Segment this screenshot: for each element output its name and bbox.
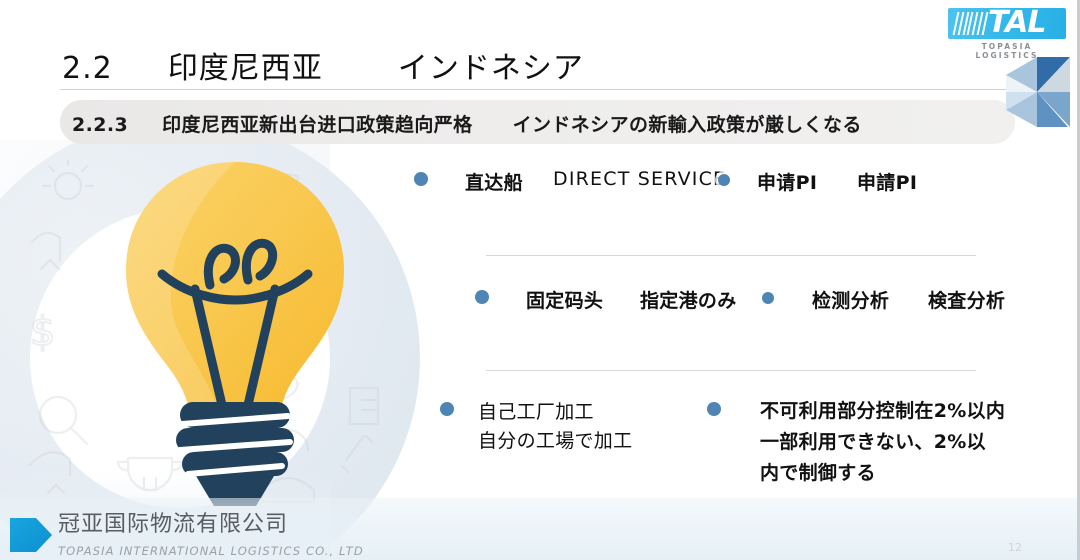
footer-company-cn: 冠亚国际物流有限公司 [58,506,288,538]
page-number: 12 [1008,541,1022,554]
row2-left-jp: 指定港のみ [640,286,737,313]
footer-company-en: TOPASIA INTERNATIONAL LOGISTICS CO., LTD [58,544,364,558]
row3-right-line1: 不可利用部分控制在2%以内 [760,396,1005,427]
row1-right-cn: 申请PI [757,168,817,195]
row2-right-jp: 検査分析 [928,286,1005,313]
lightbulb-idea-illustration [70,150,400,510]
bullet-row1-left [414,172,428,186]
row2-left-cn: 固定码头 [526,286,603,313]
row3-left-line2: 自分の工場で加工 [478,427,632,456]
tal-brand-text: TAL [988,8,1045,39]
hexagon-mark-icon [10,512,52,558]
title-jp: インドネシア [398,51,584,86]
pinwheel-icon [1000,55,1074,129]
subtitle-number: 2.2.3 [72,114,128,136]
row3-left-block: 自己工厂加工 自分の工場で加工 [478,398,632,456]
bullet-row2-right [762,292,774,304]
row1-left-en: DIRECT SERVICE [553,168,726,190]
row2-right-cn: 检测分析 [812,286,889,313]
row3-right-line2: 一部利用できない、2%以 [760,427,1005,458]
row1-right-jp: 申請PI [857,168,917,195]
page-title: 2.2 印度尼西亚 インドネシア [62,43,584,87]
bullet-row1-right [718,174,730,186]
row3-left-line1: 自己工厂加工 [478,398,632,427]
tal-logo: TAL TOPASIA LOGISTICS [948,8,1066,52]
lightbulb-icon [70,150,400,510]
row3-right-block: 不可利用部分控制在2%以内 一部利用できない、2%以 内で制御する [760,396,1005,489]
separator-1 [486,255,976,256]
tal-logo-box: TAL [948,8,1066,39]
row1-left-cn: 直达船 [465,168,523,195]
svg-text:$: $ [30,309,55,355]
subtitle-jp: インドネシアの新輸入政策が厳しくなる [513,114,862,136]
stripe-bars-icon [955,12,986,35]
row3-right-line3: 内で制御する [760,458,1005,489]
bullet-row2-left [475,290,489,304]
subtitle-cn: 印度尼西亚新出台进口政策趋向严格 [162,114,472,136]
title-cn: 印度尼西亚 [168,51,323,86]
title-number: 2.2 [62,51,113,86]
subtitle-text: 2.2.3 印度尼西亚新出台进口政策趋向严格 インドネシアの新輸入政策が厳しくな… [72,110,862,137]
slide-canvas: $ [0,0,1080,560]
bullet-row3-left [440,402,454,416]
title-divider [60,89,1018,90]
separator-2 [486,370,976,371]
bullet-row3-right [707,402,721,416]
